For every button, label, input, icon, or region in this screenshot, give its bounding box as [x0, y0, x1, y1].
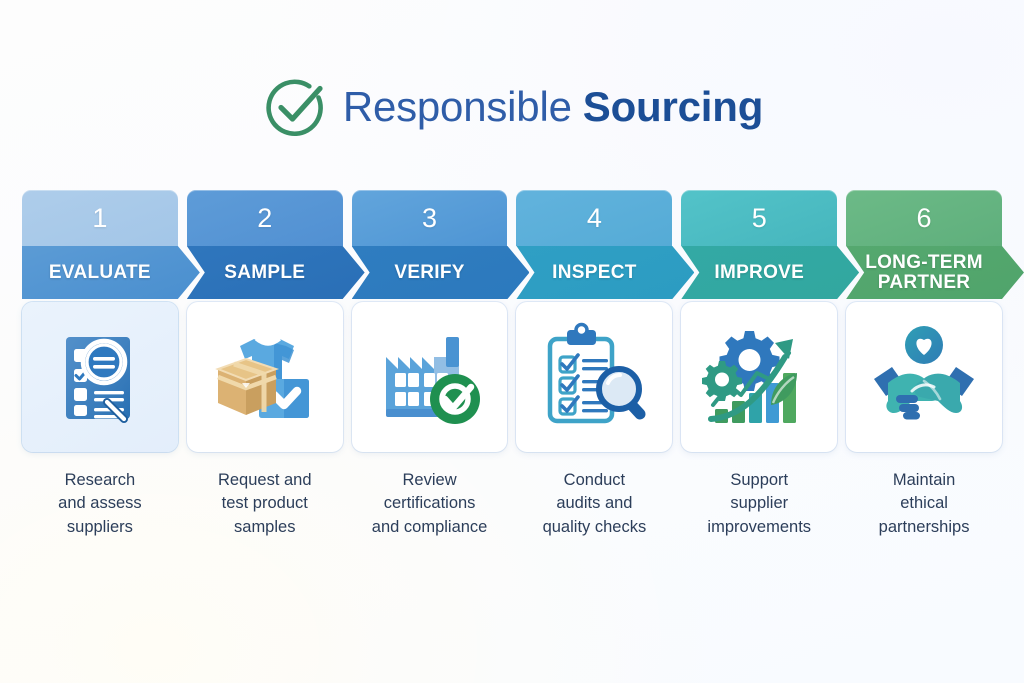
step-1[interactable]: 1 EVALUATE: [22, 190, 178, 539]
step-3-number-block: 3: [352, 190, 508, 246]
step-2-caption: Request and test product samples: [187, 469, 343, 539]
step-5-label: IMPROVE: [710, 263, 808, 282]
clipboard-checklist-magnifier-icon: [44, 321, 156, 433]
step-4-chevron: INSPECT: [516, 246, 672, 299]
step-6-chevron: LONG-TERM PARTNER: [846, 246, 1002, 299]
step-3[interactable]: 3 VERIFY: [352, 190, 508, 539]
step-2[interactable]: 2 SAMPLE: [187, 190, 343, 539]
step-5-icon-card[interactable]: [681, 302, 837, 452]
title-light: Responsible: [343, 86, 572, 128]
clipboard-audit-magnifier-icon: [536, 321, 652, 433]
step-4-number: 4: [587, 205, 602, 232]
handshake-heart-icon: [866, 321, 982, 433]
step-5-number: 5: [752, 205, 767, 232]
step-2-icon-card[interactable]: [187, 302, 343, 452]
step-5-caption: Support supplier improvements: [681, 469, 837, 539]
step-4-caption: Conduct audits and quality checks: [516, 469, 672, 539]
step-4-icon-card[interactable]: [516, 302, 672, 452]
process-steps: 1 EVALUATE: [22, 190, 1002, 535]
step-4-number-block: 4: [516, 190, 672, 246]
step-6-label: LONG-TERM PARTNER: [861, 253, 987, 292]
gears-growth-chart-leaf-icon: [701, 321, 817, 433]
step-5-number-block: 5: [681, 190, 837, 246]
step-6-number: 6: [917, 205, 932, 232]
step-1-chevron: EVALUATE: [22, 246, 178, 299]
title-bold: Sourcing: [583, 86, 763, 128]
step-2-number-block: 2: [187, 190, 343, 246]
step-3-number: 3: [422, 205, 437, 232]
step-1-number-block: 1: [22, 190, 178, 246]
step-6-caption: Maintain ethical partnerships: [846, 469, 1002, 539]
factory-check-icon: [372, 321, 488, 433]
step-4[interactable]: 4 INSPECT: [516, 190, 672, 539]
box-tshirt-bag-icon: [206, 321, 324, 433]
step-3-label: VERIFY: [390, 263, 468, 282]
step-4-label: INSPECT: [548, 263, 640, 282]
step-6-number-block: 6: [846, 190, 1002, 246]
step-6-icon-card[interactable]: [846, 302, 1002, 452]
step-1-caption: Research and assess suppliers: [22, 469, 178, 539]
step-3-caption: Review certifications and compliance: [352, 469, 508, 539]
page-title: Responsible Sourcing: [0, 72, 1024, 142]
step-1-label: EVALUATE: [45, 263, 155, 282]
step-1-icon-card[interactable]: [22, 302, 178, 452]
step-5[interactable]: 5 IMPROVE: [681, 190, 837, 539]
step-2-chevron: SAMPLE: [187, 246, 343, 299]
step-1-number: 1: [92, 205, 107, 232]
step-6[interactable]: 6 LONG-TERM PARTNER: [846, 190, 1002, 539]
title-text: Responsible Sourcing: [343, 86, 763, 128]
infographic-canvas: Responsible Sourcing 1 EVALUATE: [0, 0, 1024, 683]
check-circle-icon: [261, 73, 329, 141]
step-5-chevron: IMPROVE: [681, 246, 837, 299]
step-2-number: 2: [257, 205, 272, 232]
step-3-chevron: VERIFY: [352, 246, 508, 299]
step-3-icon-card[interactable]: [352, 302, 508, 452]
step-2-label: SAMPLE: [220, 263, 309, 282]
